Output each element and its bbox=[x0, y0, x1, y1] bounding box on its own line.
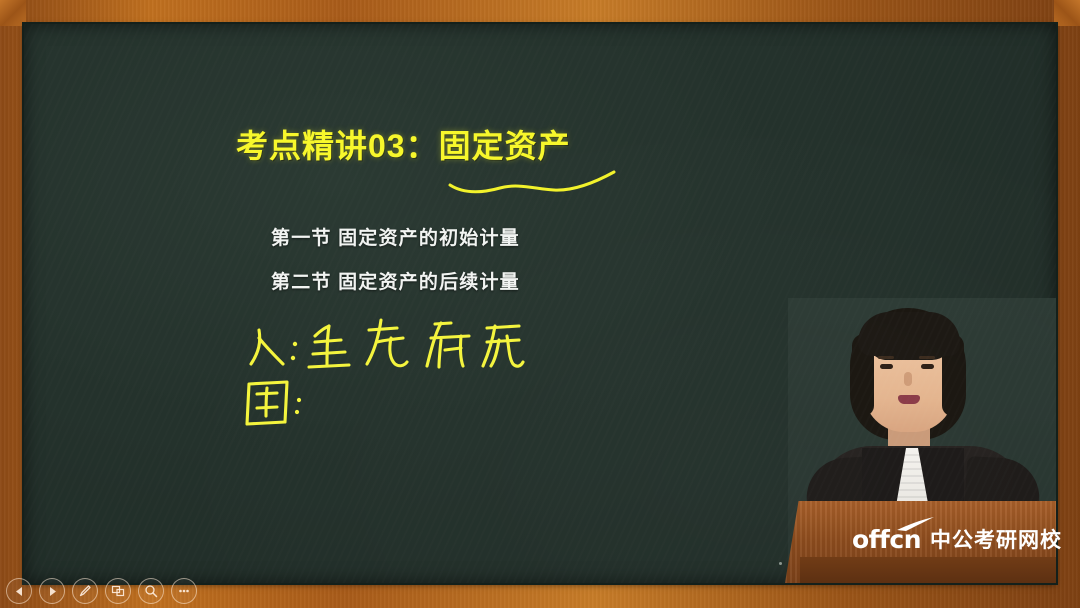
pen-icon bbox=[78, 584, 92, 598]
presenter-eyebrow-left bbox=[878, 356, 894, 359]
brand-logo: offcn 中公考研网校 bbox=[852, 525, 1062, 553]
presenter-fringe bbox=[858, 312, 960, 356]
ellipsis-icon bbox=[177, 584, 191, 598]
triangle-right-icon bbox=[47, 586, 58, 597]
podium-base bbox=[800, 557, 1056, 583]
presenter-nose bbox=[904, 372, 912, 386]
presenter-mouth bbox=[898, 395, 920, 404]
presenter-eyebrow-right bbox=[919, 356, 935, 359]
video-player: 考点精讲03：固定资产 第一节 固定资产的初始计量 第二节 固定资产的后续计量 bbox=[0, 0, 1080, 608]
triangle-left-icon bbox=[14, 586, 25, 597]
previous-button[interactable] bbox=[6, 578, 32, 604]
next-button[interactable] bbox=[39, 578, 65, 604]
screenshot-icon bbox=[111, 584, 125, 598]
screenshot-button[interactable] bbox=[105, 578, 131, 604]
player-toolbar bbox=[6, 576, 197, 606]
slide-section-1: 第一节 固定资产的初始计量 bbox=[271, 223, 520, 250]
chalk-speck bbox=[779, 562, 782, 565]
handwritten-annotation bbox=[229, 312, 569, 432]
slide-section-2: 第二节 固定资产的后续计量 bbox=[271, 267, 520, 294]
frame-corner-top-left bbox=[0, 0, 26, 26]
frame-corner-top-right bbox=[1054, 0, 1080, 26]
presenter-eye-right bbox=[921, 364, 934, 369]
chalkboard: 考点精讲03：固定资产 第一节 固定资产的初始计量 第二节 固定资产的后续计量 bbox=[24, 24, 1056, 583]
page-title: 考点精讲03：固定资产 bbox=[236, 121, 571, 167]
pen-button[interactable] bbox=[72, 578, 98, 604]
logo-wordmark: offcn bbox=[852, 525, 921, 554]
logo-chinese-name: 中公考研网校 bbox=[930, 524, 1062, 554]
more-button[interactable] bbox=[171, 578, 197, 604]
title-underline-squiggle bbox=[448, 170, 616, 196]
search-button[interactable] bbox=[138, 578, 164, 604]
search-icon bbox=[144, 584, 158, 598]
presenter-eye-left bbox=[880, 364, 893, 369]
